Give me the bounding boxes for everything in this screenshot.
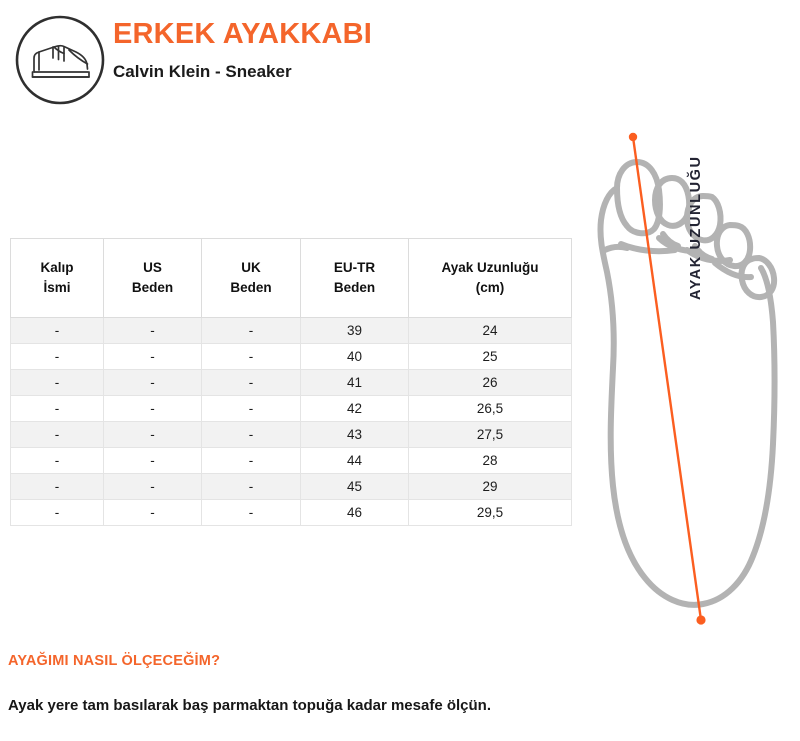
cell-eu-tr-beden: 44 <box>301 448 409 474</box>
column-header-kalip-ismi: Kalıp İsmi <box>11 239 104 318</box>
cell-eu-tr-beden: 43 <box>301 422 409 448</box>
foot-sole-diagram <box>575 126 790 636</box>
cell-ayak-uzunlugu: 24 <box>409 318 572 344</box>
cell-us-beden: - <box>104 474 202 500</box>
column-header-line2: (cm) <box>409 278 571 298</box>
table-row: - - - 41 26 <box>11 370 572 396</box>
column-header-uk-beden: UK Beden <box>202 239 301 318</box>
cell-uk-beden: - <box>202 474 301 500</box>
column-header-line1: EU-TR <box>301 258 408 278</box>
cell-ayak-uzunlugu: 27,5 <box>409 422 572 448</box>
cell-ayak-uzunlugu: 26 <box>409 370 572 396</box>
page-header: ERKEK AYAKKABI Calvin Klein - Sneaker <box>0 0 800 120</box>
column-header-us-beden: US Beden <box>104 239 202 318</box>
column-header-line1: Ayak Uzunluğu <box>409 258 571 278</box>
column-header-ayak-uzunlugu: Ayak Uzunluğu (cm) <box>409 239 572 318</box>
cell-ayak-uzunlugu: 26,5 <box>409 396 572 422</box>
sneaker-icon <box>14 14 106 106</box>
cell-eu-tr-beden: 46 <box>301 500 409 526</box>
cell-eu-tr-beden: 42 <box>301 396 409 422</box>
cell-kalip-ismi: - <box>11 344 104 370</box>
cell-us-beden: - <box>104 500 202 526</box>
cell-ayak-uzunlugu: 28 <box>409 448 572 474</box>
column-header-line1: Kalıp <box>11 258 103 278</box>
cell-ayak-uzunlugu: 29,5 <box>409 500 572 526</box>
size-chart-table: Kalıp İsmi US Beden UK Beden EU-TR Beden… <box>10 238 572 526</box>
table-row: - - - 44 28 <box>11 448 572 474</box>
measure-instructions-heading: AYAĞIMI NASIL ÖLÇECEĞİM? <box>8 653 220 669</box>
cell-kalip-ismi: - <box>11 500 104 526</box>
table-row: - - - 46 29,5 <box>11 500 572 526</box>
column-header-line2: Beden <box>202 278 300 298</box>
cell-us-beden: - <box>104 396 202 422</box>
column-header-line1: US <box>104 258 201 278</box>
cell-uk-beden: - <box>202 448 301 474</box>
cell-kalip-ismi: - <box>11 448 104 474</box>
column-header-eu-tr-beden: EU-TR Beden <box>301 239 409 318</box>
measure-endpoint-toe <box>629 133 637 141</box>
cell-kalip-ismi: - <box>11 474 104 500</box>
table-row: - - - 39 24 <box>11 318 572 344</box>
cell-uk-beden: - <box>202 318 301 344</box>
cell-kalip-ismi: - <box>11 396 104 422</box>
column-header-line2: Beden <box>301 278 408 298</box>
cell-ayak-uzunlugu: 29 <box>409 474 572 500</box>
cell-eu-tr-beden: 41 <box>301 370 409 396</box>
foot-length-label: AYAK UZUNLUĞU <box>688 80 704 300</box>
cell-us-beden: - <box>104 318 202 344</box>
cell-ayak-uzunlugu: 25 <box>409 344 572 370</box>
cell-uk-beden: - <box>202 344 301 370</box>
cell-eu-tr-beden: 40 <box>301 344 409 370</box>
cell-kalip-ismi: - <box>11 318 104 344</box>
cell-eu-tr-beden: 39 <box>301 318 409 344</box>
column-header-line2: İsmi <box>11 278 103 298</box>
table-row: - - - 45 29 <box>11 474 572 500</box>
cell-us-beden: - <box>104 344 202 370</box>
cell-eu-tr-beden: 45 <box>301 474 409 500</box>
column-header-line2: Beden <box>104 278 201 298</box>
product-subtitle: Calvin Klein - Sneaker <box>113 62 292 82</box>
table-row: - - - 40 25 <box>11 344 572 370</box>
cell-us-beden: - <box>104 448 202 474</box>
column-header-line1: UK <box>202 258 300 278</box>
cell-us-beden: - <box>104 422 202 448</box>
table-header-row: Kalıp İsmi US Beden UK Beden EU-TR Beden… <box>11 239 572 318</box>
cell-uk-beden: - <box>202 422 301 448</box>
cell-us-beden: - <box>104 370 202 396</box>
cell-uk-beden: - <box>202 370 301 396</box>
cell-uk-beden: - <box>202 396 301 422</box>
cell-kalip-ismi: - <box>11 422 104 448</box>
table-row: - - - 43 27,5 <box>11 422 572 448</box>
cell-uk-beden: - <box>202 500 301 526</box>
measure-instructions-text: Ayak yere tam basılarak baş parmaktan to… <box>8 697 491 714</box>
table-row: - - - 42 26,5 <box>11 396 572 422</box>
page-title: ERKEK AYAKKABI <box>113 18 372 51</box>
measure-endpoint-heel <box>696 615 705 624</box>
cell-kalip-ismi: - <box>11 370 104 396</box>
